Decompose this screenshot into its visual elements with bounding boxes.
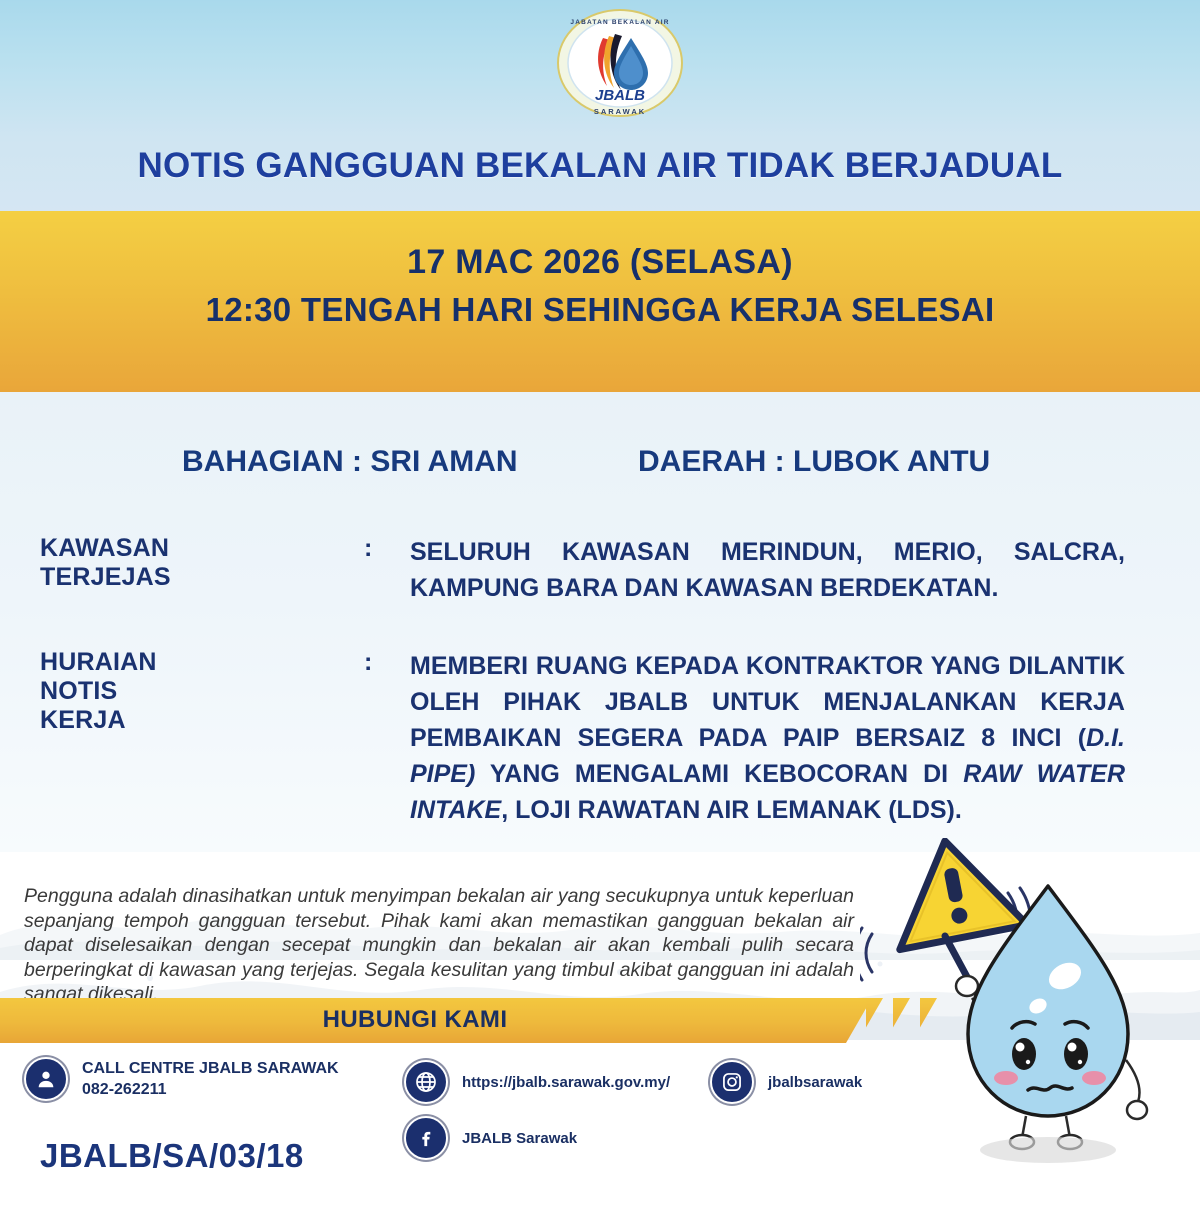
facebook-icon <box>404 1116 448 1160</box>
facebook-handle: JBALB Sarawak <box>462 1128 577 1149</box>
work-text-part1: MEMBERI RUANG KEPADA KONTRAKTOR YANG DIL… <box>410 652 1125 752</box>
division-label: BAHAGIAN : SRI AMAN <box>182 445 518 479</box>
water-droplet-mascot <box>860 838 1200 1183</box>
affected-area-colon: : <box>364 534 372 563</box>
instagram-icon <box>710 1060 754 1104</box>
work-description-colon: : <box>364 648 372 677</box>
advisory-paragraph: Pengguna adalah dinasihatkan untuk menyi… <box>24 884 854 1007</box>
work-description-label: HURAIAN NOTIS KERJA <box>40 648 157 735</box>
contact-call-centre[interactable]: CALL CENTRE JBALB SARAWAK 082-262211 <box>24 1057 339 1101</box>
contact-website[interactable]: https://jbalb.sarawak.gov.my/ <box>404 1060 670 1104</box>
warning-triangle-icon <box>881 838 1027 950</box>
schedule-date: 17 MAC 2026 (SELASA) <box>0 238 1200 286</box>
instagram-handle: jbalbsarawak <box>768 1072 862 1093</box>
call-centre-number: 082-262211 <box>82 1081 167 1098</box>
affected-area-value: SELURUH KAWASAN MERINDUN, MERIO, SALCRA,… <box>410 534 1125 606</box>
work-description-value: MEMBERI RUANG KEPADA KONTRAKTOR YANG DIL… <box>410 648 1125 828</box>
schedule-banner: 17 MAC 2026 (SELASA) 12:30 TENGAH HARI S… <box>0 238 1200 334</box>
globe-icon <box>404 1060 448 1104</box>
reference-number: JBALB/SA/03/18 <box>40 1137 304 1175</box>
contact-banner-title: HUBUNGI KAMI <box>0 1006 830 1034</box>
website-url: https://jbalb.sarawak.gov.my/ <box>462 1072 670 1093</box>
call-centre-name: CALL CENTRE JBALB SARAWAK <box>82 1060 339 1077</box>
contact-instagram[interactable]: jbalbsarawak <box>710 1060 862 1104</box>
work-text-part2: YANG MENGALAMI KEBOCORAN DI <box>475 760 963 788</box>
work-text-part3: , LOJI RAWATAN AIR LEMANAK (LDS). <box>501 796 962 824</box>
page-title: NOTIS GANGGUAN BEKALAN AIR TIDAK BERJADU… <box>0 146 1200 186</box>
svg-text:JABATAN BEKALAN AIR: JABATAN BEKALAN AIR <box>570 19 669 26</box>
jbalb-logo: JBALB JABATAN BEKALAN AIR SARAWAK <box>555 8 685 121</box>
district-label: DAERAH : LUBOK ANTU <box>638 445 990 479</box>
affected-area-label: KAWASAN TERJEJAS <box>40 534 171 592</box>
svg-text:SARAWAK: SARAWAK <box>594 107 646 116</box>
schedule-time: 12:30 TENGAH HARI SEHINGGA KERJA SELESAI <box>0 286 1200 334</box>
person-icon <box>24 1057 68 1101</box>
contact-facebook[interactable]: JBALB Sarawak <box>404 1116 577 1160</box>
svg-text:JBALB: JBALB <box>595 87 645 104</box>
notice-poster: JBALB JABATAN BEKALAN AIR SARAWAK NOTIS … <box>0 0 1200 1207</box>
